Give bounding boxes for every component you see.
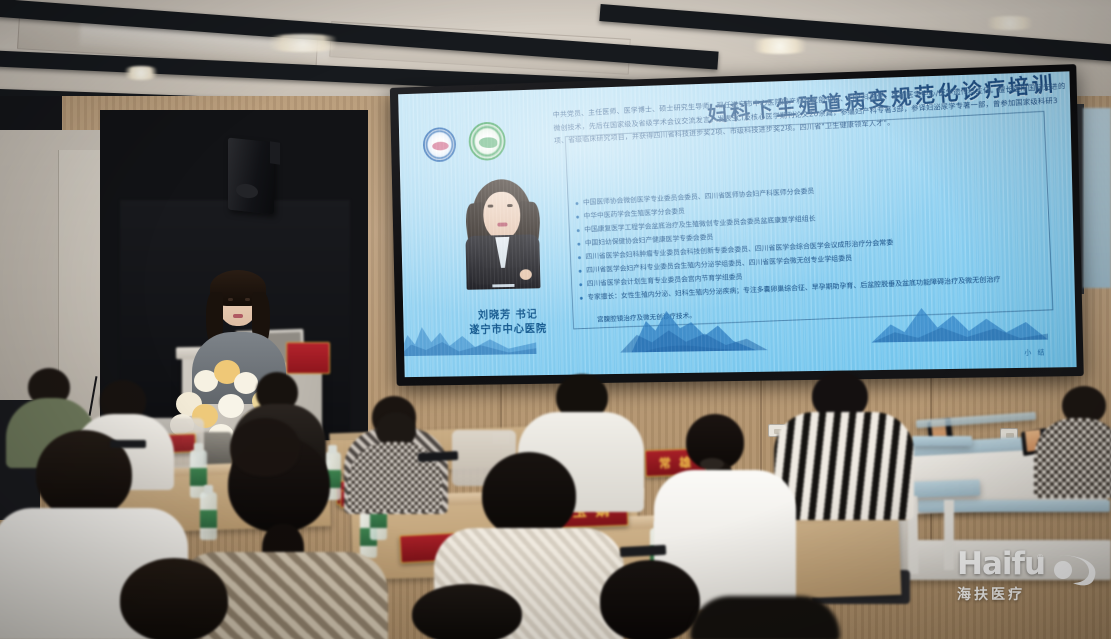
portrait-eye [488, 205, 494, 208]
haifu-watermark: Haifu ® 海扶医疗 [957, 549, 1103, 615]
ceiling-light [980, 16, 1040, 30]
watermark-registered-icon: ® [1037, 553, 1043, 562]
portrait-lips [497, 222, 507, 226]
wall-speaker [228, 138, 274, 215]
ink-mountain-center-icon [614, 301, 776, 353]
desk-leg [944, 500, 954, 570]
conference-photo-scene: 妇科下生殖道病变规范化诊疗培训 [0, 0, 1111, 639]
attendee-head [412, 584, 522, 639]
attendee-body [690, 596, 840, 639]
window-glass [1083, 108, 1111, 288]
attendee-head [120, 558, 228, 639]
presenter-eye [245, 298, 250, 301]
presenter-eye [228, 298, 233, 301]
water-bottle [200, 492, 217, 540]
hospital-logo-blue-icon [423, 127, 457, 162]
portrait-eye [507, 204, 513, 207]
hair-tie [700, 458, 724, 470]
attendee-head [482, 452, 576, 538]
slide-surface: 妇科下生殖道病变规范化诊疗培训 [398, 71, 1076, 377]
watermark-brand-cn: 海扶医疗 [957, 584, 1103, 604]
attendee-head [600, 560, 700, 639]
watermark-swoosh-icon [1049, 553, 1103, 587]
slide-bullet-list: 中国医师协会微创医学专业委员会委员、四川省医师协会妇产科医师分会委员 中华中医药… [574, 172, 1069, 305]
ceiling-light [120, 66, 162, 80]
led-presentation-screen[interactable]: 妇科下生殖道病变规范化诊疗培训 [390, 64, 1084, 386]
association-logo-green-icon [468, 121, 506, 161]
screen-bezel: 妇科下生殖道病变规范化诊疗培训 [390, 64, 1084, 386]
presenter-mouth [233, 314, 243, 318]
phone-on-table [110, 440, 146, 448]
slide-seal: 小 结 [1024, 348, 1046, 358]
ink-mountain-right-icon [871, 296, 1048, 343]
ink-mountain-left-icon [398, 310, 536, 357]
attendee-body [1034, 418, 1111, 498]
watermark-brand: Haifu [957, 549, 1045, 580]
podium-placard [286, 342, 330, 374]
desk-edge [912, 436, 972, 446]
ceiling-light [258, 34, 348, 52]
ceiling-light [745, 38, 815, 54]
attendee-head [230, 418, 300, 476]
speaker-portrait [453, 178, 552, 307]
speaker-mount [270, 141, 280, 164]
